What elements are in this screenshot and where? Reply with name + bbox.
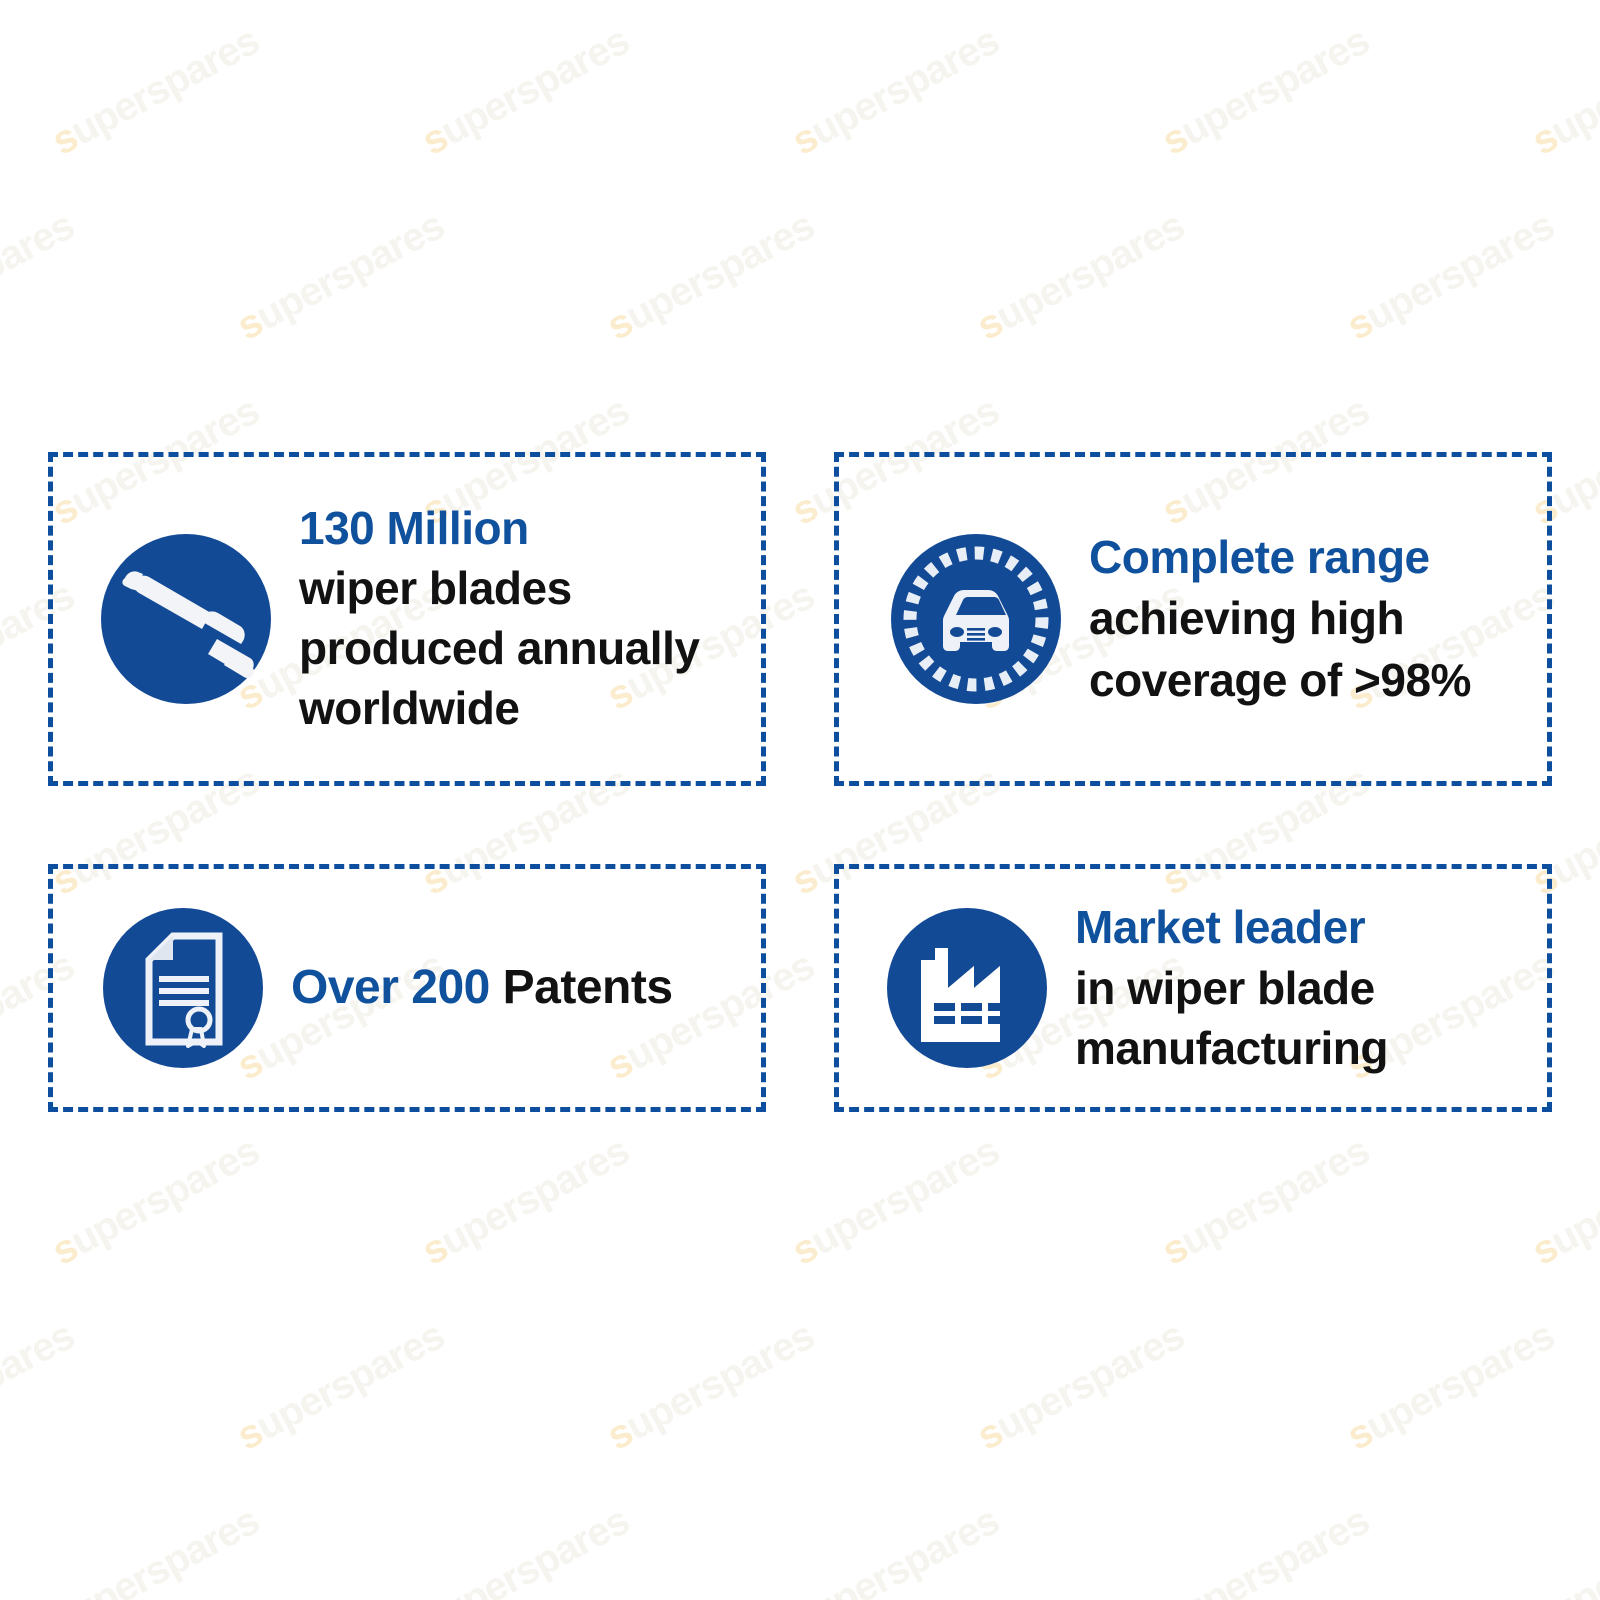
panel-market-line-1: in wiper blade (1075, 958, 1547, 1019)
watermark-text: superspares (415, 18, 636, 164)
watermark-text: superspares (230, 203, 451, 349)
panel-patents-headline: Over 200 (291, 961, 490, 1014)
watermark-text: superspares (0, 203, 81, 349)
watermark-text: superspares (1340, 1313, 1561, 1459)
panel-production-headline: 130 Million (299, 499, 761, 559)
panel-patents: Over 200 Patents (48, 864, 766, 1112)
watermark-text: superspares (1340, 203, 1561, 349)
wiper-blade-icon (81, 524, 291, 714)
panel-market: Market leader in wiper blade manufacturi… (834, 864, 1552, 1112)
panel-coverage-text: Complete range achieving high coverage o… (1089, 527, 1547, 712)
watermark-text: superspares (415, 1498, 636, 1600)
panel-production-text: 130 Million wiper blades produced annual… (299, 499, 761, 738)
watermark-text: superspares (45, 1128, 266, 1274)
factory-icon (867, 898, 1067, 1078)
watermark-text: superspares (415, 1128, 636, 1274)
panel-patents-text: Over 200 Patents (291, 959, 761, 1017)
watermark-text: superspares (1155, 1128, 1376, 1274)
watermark-text: superspares (970, 203, 1191, 349)
watermark-text: superspares (1155, 1498, 1376, 1600)
watermark-text: superspares (785, 18, 1006, 164)
watermark-text: superspares (785, 1128, 1006, 1274)
panel-patents-suffix: Patents (490, 961, 673, 1014)
panel-coverage-line-2: coverage of >98% (1089, 650, 1547, 712)
watermark-text: superspares (1525, 18, 1600, 164)
panel-coverage-headline: Complete range (1089, 527, 1547, 589)
watermark-text: superspares (230, 1313, 451, 1459)
patent-certificate-icon (83, 898, 283, 1078)
panel-production-line-3: worldwide (299, 679, 761, 739)
watermark-text: superspares (1525, 1498, 1600, 1600)
panel-production-line-2: produced annually (299, 619, 761, 679)
watermark-text: superspares (600, 203, 821, 349)
watermark-text: superspares (1155, 18, 1376, 164)
panel-market-text: Market leader in wiper blade manufacturi… (1075, 897, 1547, 1079)
watermark-text: superspares (45, 18, 266, 164)
watermark-text: superspares (1525, 1128, 1600, 1274)
watermark-text: superspares (600, 1313, 821, 1459)
car-in-dashed-circle-icon (871, 524, 1081, 714)
feature-panel-grid: 130 Million wiper blades produced annual… (48, 452, 1552, 1112)
panel-coverage-line-1: achieving high (1089, 588, 1547, 650)
panel-production-line-1: wiper blades (299, 559, 761, 619)
watermark-text: superspares (785, 1498, 1006, 1600)
panel-market-line-2: manufacturing (1075, 1018, 1547, 1079)
watermark-text: superspares (0, 1313, 81, 1459)
panel-production: 130 Million wiper blades produced annual… (48, 452, 766, 786)
watermark-text: superspares (970, 1313, 1191, 1459)
panel-coverage: Complete range achieving high coverage o… (834, 452, 1552, 786)
panel-market-headline: Market leader (1075, 897, 1547, 958)
watermark-text: superspares (45, 1498, 266, 1600)
